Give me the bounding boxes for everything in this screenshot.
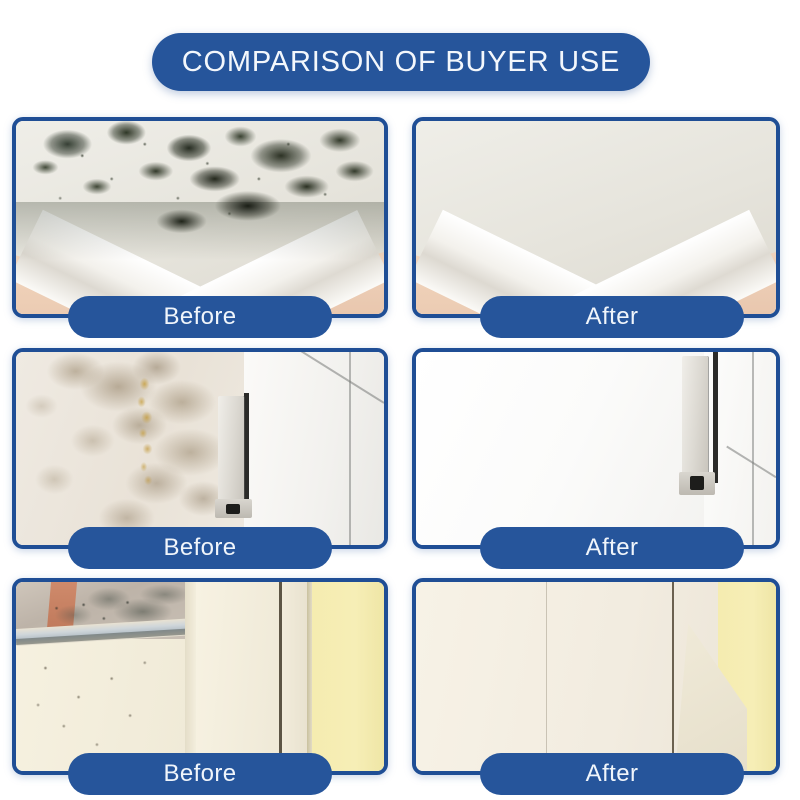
door-hinge — [682, 356, 707, 476]
label-before-1: Before — [68, 296, 332, 338]
photo-before-1 — [16, 121, 384, 314]
label-before-3: Before — [68, 753, 332, 795]
door-hinge — [218, 396, 244, 502]
mildew-stains — [16, 352, 229, 545]
photo-after-2 — [416, 352, 776, 545]
comparison-panel-after-2 — [412, 348, 780, 549]
comparison-panel-after-3 — [412, 578, 780, 775]
label-after-1: After — [480, 296, 744, 338]
photo-before-3 — [16, 582, 384, 771]
photo-after-3 — [416, 582, 776, 771]
comparison-panel-before-1 — [12, 117, 388, 318]
comparison-panel-before-3 — [12, 578, 388, 775]
comparison-panel-before-2 — [12, 348, 388, 549]
photo-after-1 — [416, 121, 776, 314]
comparison-panel-after-1 — [412, 117, 780, 318]
label-after-2: After — [480, 527, 744, 569]
label-before-2: Before — [68, 527, 332, 569]
comparison-grid: Before After Before — [0, 0, 800, 800]
label-after-3: After — [480, 753, 744, 795]
photo-before-2 — [16, 352, 384, 545]
